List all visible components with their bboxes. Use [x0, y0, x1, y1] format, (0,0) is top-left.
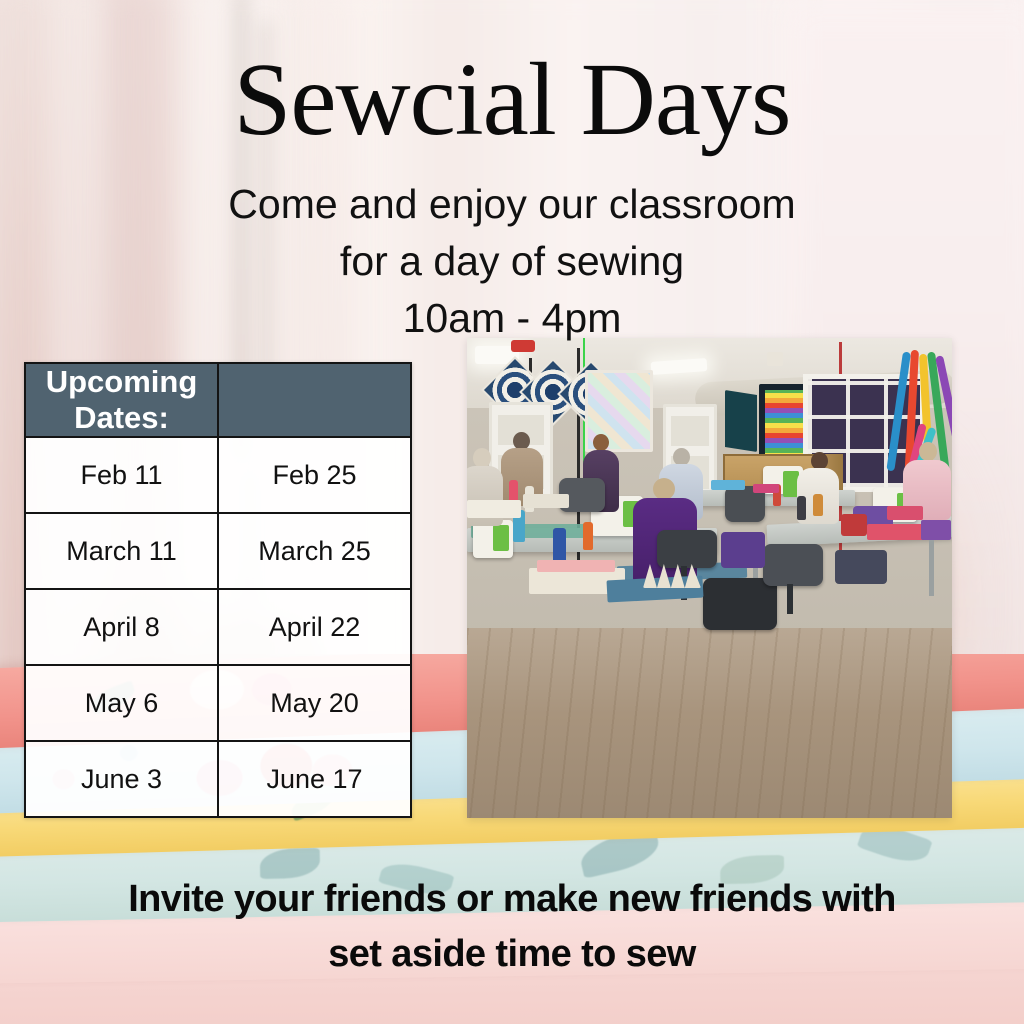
table-header-cell-right [218, 363, 411, 437]
table-row: March 11 March 25 [25, 513, 411, 589]
date-cell: June 3 [25, 741, 218, 817]
photo-fabric-pile [467, 500, 521, 518]
subtitle-line-1: Come and enjoy our classroom [0, 176, 1024, 233]
table-row: April 8 April 22 [25, 589, 411, 665]
date-cell: March 11 [25, 513, 218, 589]
photo-vent [767, 352, 783, 366]
table-row: Feb 11 Feb 25 [25, 437, 411, 513]
photo-chair [763, 544, 823, 586]
footer-line-1: Invite your friends or make new friends … [0, 872, 1024, 927]
date-cell: Feb 11 [25, 437, 218, 513]
table-header-cell-left: Upcoming Dates: [25, 363, 218, 437]
date-cell: Feb 25 [218, 437, 411, 513]
photo-fabric-pile [753, 484, 779, 493]
photo-table-leg [929, 536, 934, 596]
date-cell: May 6 [25, 665, 218, 741]
subtitle-line-3: 10am - 4pm [0, 290, 1024, 347]
photo-chair [657, 530, 717, 568]
photo-tote-bag [835, 550, 887, 584]
date-cell: April 8 [25, 589, 218, 665]
footer-line-2: set aside time to sew [0, 927, 1024, 982]
date-cell: May 20 [218, 665, 411, 741]
photo-chair-post [787, 584, 793, 614]
photo-fabric-pile [711, 480, 745, 490]
table-row: June 3 June 17 [25, 741, 411, 817]
photo-floor [467, 628, 952, 818]
photo-bottle [583, 522, 593, 550]
photo-fabric-pile [537, 560, 615, 572]
photo-tote-bag [721, 532, 765, 568]
photo-bottle [797, 496, 806, 520]
photo-wall-quilt-navy [725, 390, 757, 452]
date-cell: March 25 [218, 513, 411, 589]
photo-water-bottle [553, 528, 566, 562]
table-row: May 6 May 20 [25, 665, 411, 741]
date-cell: April 22 [218, 589, 411, 665]
date-cell: June 17 [218, 741, 411, 817]
photo-red-basket [841, 514, 867, 536]
photo-chair [703, 578, 777, 630]
photo-fabric-pile [523, 494, 569, 508]
subtitle-line-2: for a day of sewing [0, 233, 1024, 290]
footer-text-block: Invite your friends or make new friends … [0, 872, 1024, 982]
poster-canvas: PFAFF [0, 0, 1024, 1024]
upcoming-dates-table: Upcoming Dates: Feb 11 Feb 25 March 11 M… [24, 362, 412, 818]
photo-fabric-pile [867, 524, 927, 540]
table-header-row: Upcoming Dates: [25, 363, 411, 437]
page-title: Sewcial Days [0, 48, 1024, 152]
photo-fabric-pile [921, 520, 951, 540]
subtitle-block: Come and enjoy our classroom for a day o… [0, 176, 1024, 347]
sewing-classroom-photo [467, 338, 952, 818]
photo-bottle [813, 494, 823, 516]
photo-fabric-pile [887, 506, 923, 520]
